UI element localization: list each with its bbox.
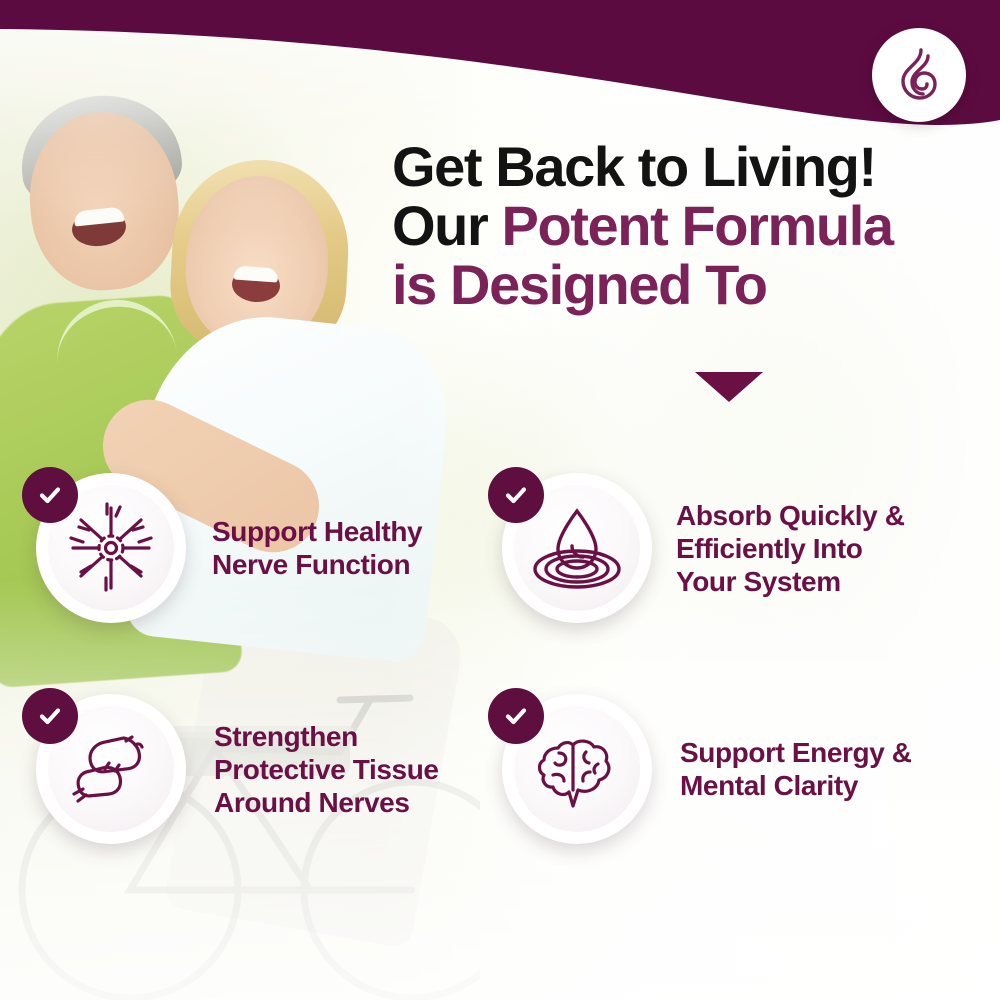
feature-support-energy-mental-clarity: Support Energy & Mental Clarity <box>502 694 912 844</box>
feature-label: Absorb Quickly & Efficiently Into Your S… <box>676 499 905 598</box>
promo-graphic: Get Back to Living! Our Potent Formula i… <box>0 0 1000 1000</box>
neuron-icon <box>63 500 159 596</box>
feature-support-healthy-nerve-function: Support Healthy Nerve Function <box>36 473 422 623</box>
feature-icon-disc <box>502 473 652 623</box>
check-glyph <box>35 480 65 510</box>
check-icon <box>22 688 78 744</box>
check-glyph <box>35 701 65 731</box>
page-title: Get Back to Living! Our Potent Formula i… <box>392 137 952 314</box>
check-icon <box>488 467 544 523</box>
feature-icon-disc <box>502 694 652 844</box>
spiral-drop-logo-icon <box>888 44 950 106</box>
feature-icon-disc <box>36 694 186 844</box>
feature-absorb-quickly-efficiently: Absorb Quickly & Efficiently Into Your S… <box>502 473 905 623</box>
headline-line-1: Get Back to Living! <box>392 137 952 196</box>
check-icon <box>22 467 78 523</box>
check-glyph <box>501 480 531 510</box>
headline-line-2: Our Potent Formula <box>392 196 952 255</box>
myelin-sheath-icon <box>63 721 159 817</box>
check-glyph <box>501 701 531 731</box>
headline-line-2-plain: Our <box>392 194 502 257</box>
feature-label: Support Healthy Nerve Function <box>212 515 422 581</box>
check-icon <box>488 688 544 744</box>
headline-line-3: is Designed To <box>392 255 952 314</box>
feature-label: Strengthen Protective Tissue Around Nerv… <box>214 720 439 819</box>
brain-icon <box>528 720 626 818</box>
headline-line-2-accent: Potent Formula <box>502 194 893 257</box>
feature-icon-disc <box>36 473 186 623</box>
feature-strengthen-protective-tissue: Strengthen Protective Tissue Around Nerv… <box>36 694 439 844</box>
feature-label: Support Energy & Mental Clarity <box>680 736 912 802</box>
brand-logo[interactable] <box>872 28 966 122</box>
arrow-down-triangle-icon <box>695 372 763 402</box>
water-droplet-ripple-icon <box>528 499 626 597</box>
